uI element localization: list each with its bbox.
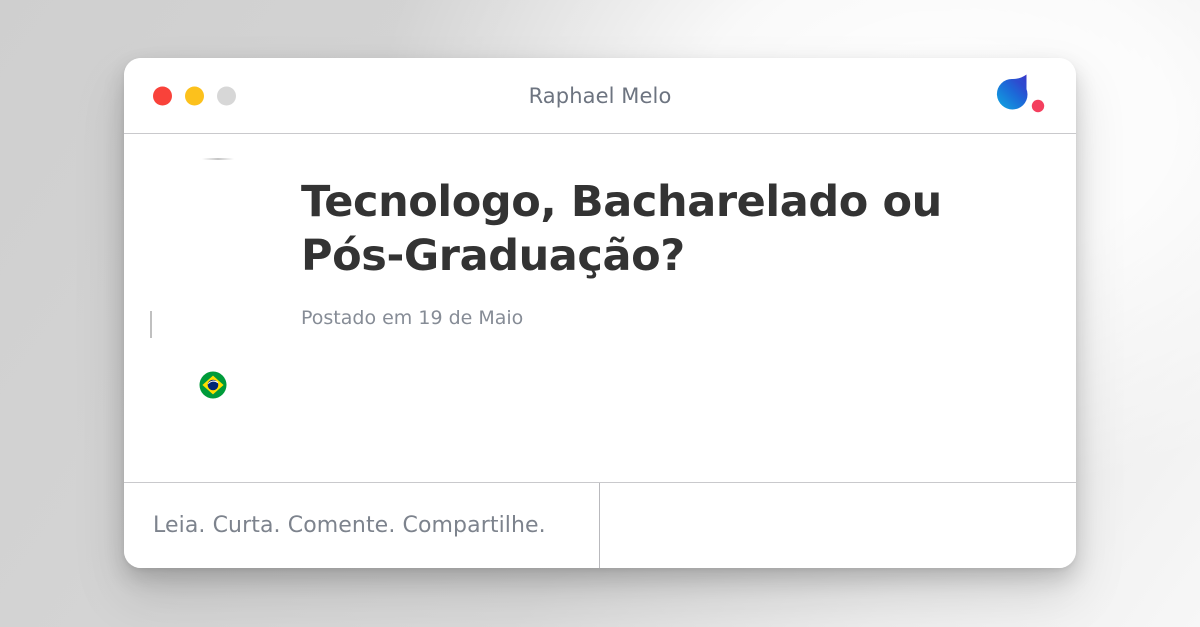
window-footer: Leia. Curta. Comente. Compartilhe.: [124, 483, 1076, 568]
page-backdrop: Raphael Melo: [0, 0, 1200, 627]
window-titlebar: Raphael Melo: [124, 58, 1076, 134]
placeholder-line-vertical: [150, 311, 152, 338]
footer-right-cell: [600, 483, 1076, 568]
article-content: Tecnologo, Bacharelado ou Pós-Graduação?…: [301, 134, 1076, 482]
footer-tagline: Leia. Curta. Comente. Compartilhe.: [153, 513, 546, 538]
article-area: Tecnologo, Bacharelado ou Pós-Graduação?…: [124, 134, 1076, 483]
article-gutter: [124, 134, 300, 482]
footer-left-cell: Leia. Curta. Comente. Compartilhe.: [124, 483, 600, 568]
placeholder-line-horizontal: [202, 158, 234, 160]
brazil-flag-icon: [199, 371, 227, 399]
browser-window: Raphael Melo: [124, 58, 1076, 568]
page-title: Tecnologo, Bacharelado ou Pós-Graduação?: [301, 176, 981, 284]
droplet-logo-icon: [996, 73, 1048, 119]
post-date: Postado em 19 de Maio: [301, 307, 1076, 329]
window-title: Raphael Melo: [124, 84, 1076, 108]
